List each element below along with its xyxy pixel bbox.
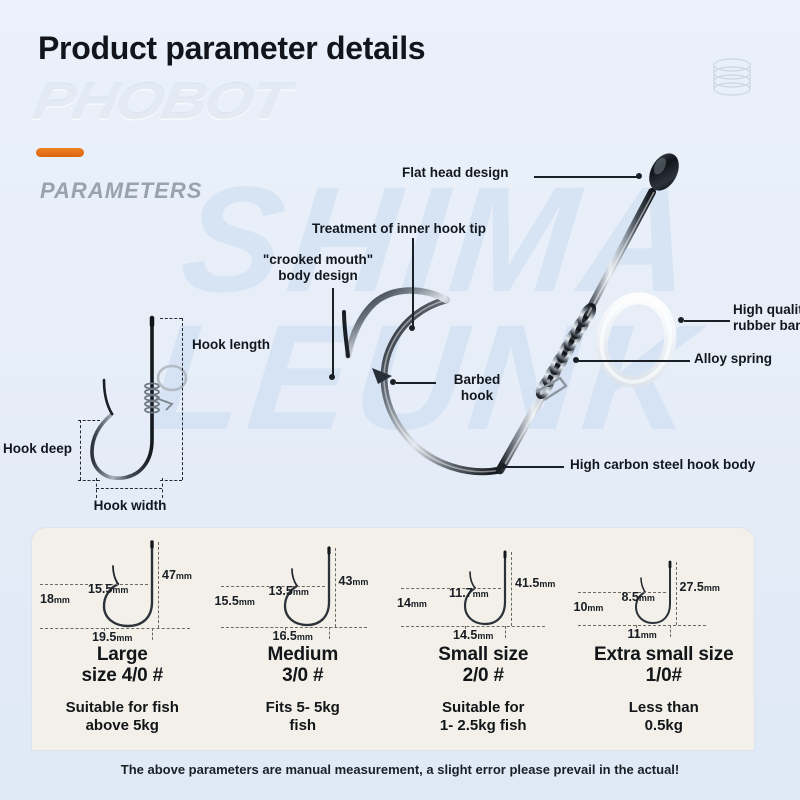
callout-crooked-mouth: "crooked mouth" body design	[256, 252, 380, 285]
measurement-hook-deep: Hook deep	[0, 441, 72, 457]
spec-guide-width-right-large	[152, 628, 153, 640]
spec-drawing-large: 47mm 18mm 15.5mm 19.5mm	[32, 536, 213, 644]
spec-guide-deep-bottom-xs	[578, 625, 706, 626]
spec-drawing-small: 41.5mm 14mm 11.7mm 14.5mm	[393, 536, 574, 644]
spec-column-extra-small: 27.5mm 10mm 8.5mm 11mm Extra small size …	[574, 528, 755, 750]
callout-flat-head-design: Flat head design	[402, 165, 509, 181]
guide-hook-length-bottom	[160, 480, 182, 481]
leader-dot-flat-head	[636, 173, 642, 179]
spec-guide-length-large	[158, 542, 159, 628]
spec-length-small: 41.5mm	[515, 576, 555, 590]
leader-line-inner-hook-tip	[412, 238, 414, 328]
spec-guide-length-xs	[676, 562, 677, 625]
spec-drawing-extra-small: 27.5mm 10mm 8.5mm 11mm	[574, 536, 755, 644]
guide-hook-length-line	[182, 318, 183, 480]
spec-guide-deep-bottom-medium	[221, 627, 367, 628]
leader-dot-hook-body	[500, 463, 506, 469]
leader-dot-crooked-mouth	[329, 374, 335, 380]
callout-rubber-band: High quality rubber band	[733, 302, 800, 335]
callout-hook-body: High carbon steel hook body	[570, 457, 755, 473]
spec-desc-small: Suitable for 1- 2.5kg fish	[393, 699, 574, 735]
measurement-hook-length: Hook length	[192, 337, 270, 353]
spec-guide-width-right-small	[505, 626, 506, 638]
leader-line-flat-head	[534, 176, 638, 178]
guide-hook-deep-top	[78, 420, 100, 421]
spec-guide-length-small	[511, 552, 512, 626]
spec-width-large: 19.5mm	[92, 630, 132, 644]
spec-width-xs: 11mm	[628, 627, 657, 641]
spec-width-medium: 16.5mm	[273, 629, 313, 643]
leader-line-alloy-spring	[578, 360, 690, 362]
spec-length-large: 47mm	[162, 568, 192, 582]
spec-deep-medium: 15.5mm	[215, 594, 255, 608]
spec-length-xs: 27.5mm	[680, 580, 720, 594]
spec-guide-length-medium	[335, 548, 336, 627]
guide-hook-width-line	[96, 488, 162, 489]
spec-desc-large: Suitable for fish above 5kg	[32, 699, 213, 735]
leader-line-crooked-mouth	[332, 288, 334, 378]
spec-title-small: Small size 2/0 #	[393, 644, 574, 687]
spec-gap-xs: 8.5mm	[622, 590, 655, 604]
specification-columns: 47mm 18mm 15.5mm 19.5mm Large size 4/0 #…	[32, 528, 754, 750]
spec-gap-medium: 13.5mm	[269, 584, 309, 598]
spec-deep-small: 14mm	[397, 596, 427, 610]
leader-line-rubber-band	[684, 320, 730, 322]
spec-title-extra-small: Extra small size 1/0#	[574, 644, 755, 687]
spec-column-large: 47mm 18mm 15.5mm 19.5mm Large size 4/0 #…	[32, 528, 213, 750]
spec-length-medium: 43mm	[339, 574, 369, 588]
leader-dot-rubber-band	[678, 317, 684, 323]
spec-deep-large: 18mm	[40, 592, 70, 606]
leader-line-barbed-hook	[396, 382, 436, 384]
spec-guide-width-right-xs	[670, 625, 671, 637]
leader-dot-alloy-spring	[573, 357, 579, 363]
spec-desc-extra-small: Less than 0.5kg	[574, 699, 755, 735]
guide-hook-length-top	[160, 318, 182, 319]
leader-dot-inner-hook-tip	[409, 325, 415, 331]
spec-column-small: 41.5mm 14mm 11.7mm 14.5mm Small size 2/0…	[393, 528, 574, 750]
spec-desc-medium: Fits 5- 5kg fish	[213, 699, 394, 735]
callout-inner-hook-tip: Treatment of inner hook tip	[312, 221, 486, 237]
measurement-hook-width: Hook width	[78, 498, 182, 514]
specification-panel: 47mm 18mm 15.5mm 19.5mm Large size 4/0 #…	[32, 528, 754, 750]
guide-hook-width-right	[162, 478, 163, 498]
spec-drawing-medium: 43mm 15.5mm 13.5mm 16.5mm	[213, 536, 394, 644]
spec-gap-large: 15.5mm	[88, 582, 128, 596]
infographic-page: SHIMA LEUNK PHOBOT Product parameter det…	[0, 0, 800, 800]
spec-width-small: 14.5mm	[453, 628, 493, 642]
spec-title-medium: Medium 3/0 #	[213, 644, 394, 687]
spec-guide-deep-bottom-large	[40, 628, 190, 629]
spec-column-medium: 43mm 15.5mm 13.5mm 16.5mm Medium 3/0 # F…	[213, 528, 394, 750]
footnote-disclaimer: The above parameters are manual measurem…	[0, 762, 800, 777]
leader-line-hook-body	[506, 466, 564, 468]
spec-title-large: Large size 4/0 #	[32, 644, 213, 687]
callout-alloy-spring: Alloy spring	[694, 351, 772, 367]
callout-barbed-hook: Barbed hook	[440, 372, 514, 405]
guide-hook-deep-line	[80, 420, 81, 480]
spec-guide-deep-bottom-small	[401, 626, 545, 627]
spec-gap-small: 11.7mm	[449, 586, 489, 600]
spec-deep-xs: 10mm	[574, 600, 604, 614]
product-illustration	[0, 0, 800, 530]
leader-dot-barbed-hook	[390, 379, 396, 385]
spec-guide-width-right-medium	[329, 627, 330, 639]
